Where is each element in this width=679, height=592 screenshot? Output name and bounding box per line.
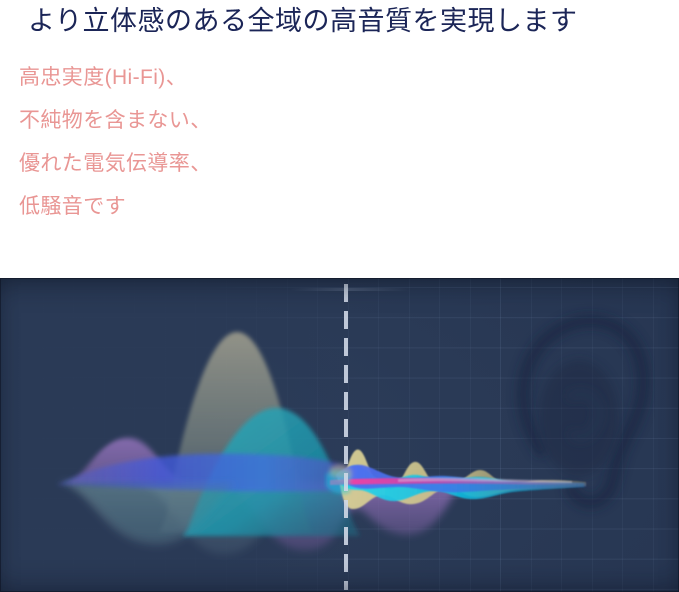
feature-line-1: 高忠実度(Hi-Fi)、 [19,56,419,99]
feature-line-4: 低騒音です [19,185,419,228]
waveform-panel [0,278,679,592]
page-root: より立体感のある全域の高音質を実現します 高忠実度(Hi-Fi)、 不純物を含ま… [0,0,679,592]
vertical-dashed-divider [344,284,348,590]
waveform-graphic [0,278,679,592]
page-title: より立体感のある全域の高音質を実現します [28,3,577,39]
feature-description: 高忠実度(Hi-Fi)、 不純物を含まない、 優れた電気伝導率、 低騒音です [19,56,419,228]
feature-line-2: 不純物を含まない、 [19,99,419,142]
feature-line-3: 優れた電気伝導率、 [19,142,419,185]
